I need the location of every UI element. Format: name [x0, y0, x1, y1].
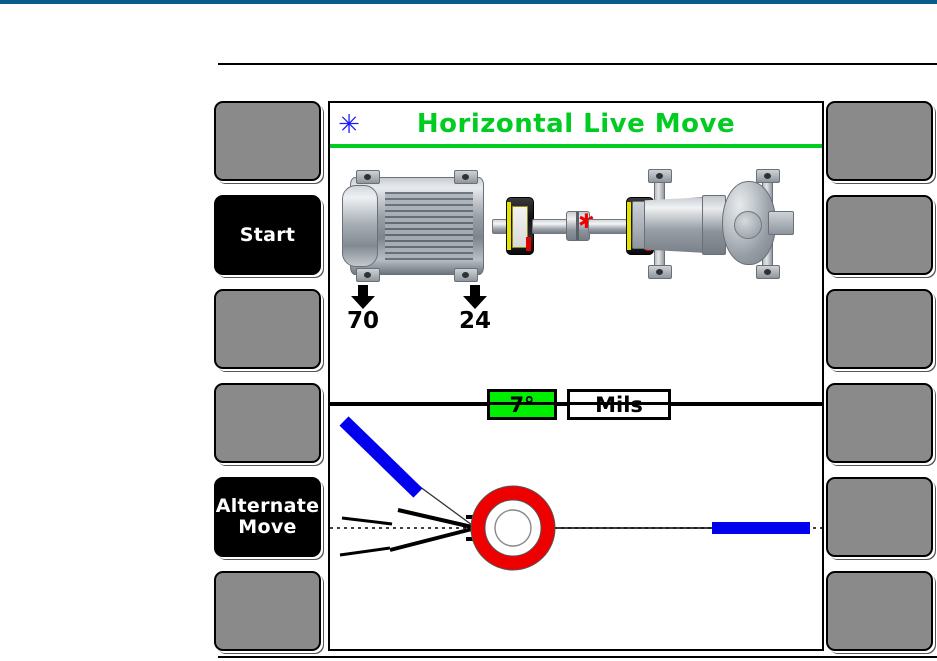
gauge-pointer-bar: [344, 421, 418, 493]
title-underline: [330, 144, 822, 148]
screen-title-bar: ✳ Horizontal Live Move: [330, 103, 822, 147]
header-divider: [218, 63, 937, 65]
motor-endcap: [342, 185, 378, 267]
pump-foot-bottom-right: [756, 265, 780, 279]
gauge-wedge-lower-tail: [340, 548, 390, 555]
pump-foot-bottom-left: [648, 265, 672, 279]
pump-outlet: [768, 211, 794, 235]
pump-graphic: [630, 167, 780, 279]
softkey-left-1[interactable]: [214, 101, 321, 181]
pump-cone: [644, 197, 708, 253]
page-title: Horizontal Live Move: [330, 109, 822, 139]
sensor-left-tab: [507, 202, 511, 250]
intermediate-shaft-left: [532, 219, 570, 234]
softkey-left-5-alternate-move[interactable]: Alternate Move: [214, 477, 321, 557]
left-softkey-column: Start Alternate Move: [214, 101, 325, 651]
softkey-right-5[interactable]: [826, 477, 933, 557]
foot-readout-front: 70: [338, 285, 388, 333]
arrow-down-icon-front: [338, 285, 388, 309]
laser-sensor-left: [506, 197, 534, 255]
softkey-right-1[interactable]: [826, 101, 933, 181]
sensor-left-led: [526, 237, 531, 251]
softkey-right-3[interactable]: [826, 289, 933, 369]
motor-graphic: [342, 177, 494, 273]
softkey-right-2[interactable]: [826, 195, 933, 275]
foot-value-front: 70: [338, 309, 388, 333]
pump-foot-top-left: [648, 169, 672, 183]
motor-foot-bottom-left: [356, 268, 380, 282]
pump-hub: [734, 211, 762, 239]
gauge-wedge-upper-arm: [398, 510, 472, 527]
top-accent-bar: [0, 0, 937, 4]
softkey-right-4[interactable]: [826, 383, 933, 463]
motor-foot-bottom-right: [454, 268, 478, 282]
softkey-left-5-label: Alternate Move: [216, 496, 320, 538]
footer-divider: [218, 656, 937, 658]
screen-section-divider: [330, 402, 822, 405]
gauge-svg: [330, 405, 822, 651]
motor-foot-top-left: [356, 170, 380, 184]
softkey-left-2-label: Start: [240, 225, 296, 246]
measurement-screen: ✳ Horizontal Live Move ✱: [328, 101, 824, 651]
foot-readout-back: 24: [450, 285, 500, 333]
motor-foot-top-right: [454, 170, 478, 184]
pump-foot-top-right: [756, 169, 780, 183]
angular-position-gauge: [330, 405, 822, 651]
right-softkey-column: [826, 101, 937, 651]
machine-train-diagram: ✱ 70: [330, 149, 822, 404]
softkey-left-3[interactable]: [214, 289, 321, 369]
foot-value-back: 24: [450, 309, 500, 333]
softkey-right-6[interactable]: [826, 571, 933, 651]
motor-cooling-fins: [385, 192, 473, 260]
softkey-left-4[interactable]: [214, 383, 321, 463]
gauge-wedge-upper-tail: [342, 518, 392, 524]
arrow-down-icon-back: [450, 285, 500, 309]
softkey-left-2-start[interactable]: Start: [214, 195, 321, 275]
softkey-left-6[interactable]: [214, 571, 321, 651]
gauge-target-center: [495, 510, 531, 546]
gauge-wedge-lower-arm: [390, 529, 472, 550]
